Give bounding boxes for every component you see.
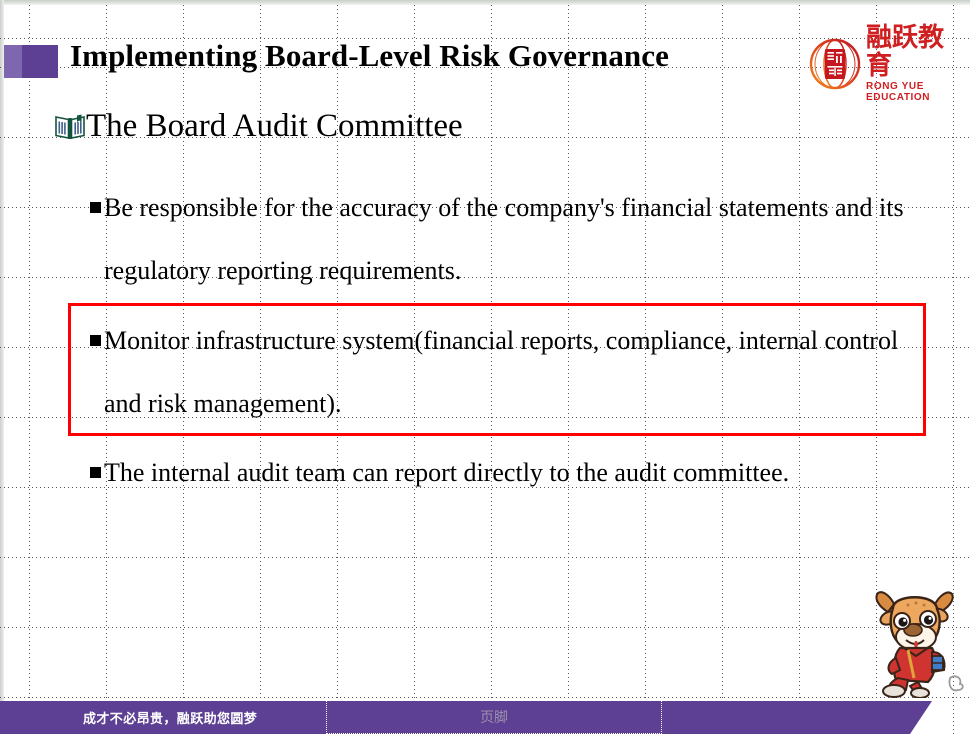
square-bullet-icon xyxy=(90,467,101,478)
brand-wordmark: 融跃教育 RONG YUE EDUCATION xyxy=(866,25,966,103)
footer-placeholder-text: 页脚 xyxy=(480,707,508,727)
square-bullet-icon xyxy=(90,202,101,213)
bullet-item: The internal audit team can report direc… xyxy=(90,441,940,504)
top-edge-strip xyxy=(0,0,970,5)
title-decor-block-dark xyxy=(22,45,58,78)
slide-title: Implementing Board-Level Risk Governance xyxy=(70,38,810,74)
footer-slogan: 成才不必昂贵，融跃助您圆梦 xyxy=(83,708,257,727)
ox-mascot-icon xyxy=(866,578,966,698)
bullet-item: Be responsible for the accuracy of the c… xyxy=(90,176,940,302)
brand-name-en: RONG YUE EDUCATION xyxy=(866,81,966,103)
brand-logo: 融跃教育 RONG YUE EDUCATION xyxy=(806,33,966,95)
section-heading-text: The Board Audit Committee xyxy=(86,110,463,143)
footer-placeholder-box[interactable]: 页脚 xyxy=(326,700,662,734)
slide-canvas: Implementing Board-Level Risk Governance xyxy=(0,0,970,734)
left-edge-strip xyxy=(0,0,4,734)
open-book-icon xyxy=(55,113,85,140)
title-decor-block-light xyxy=(4,45,22,78)
section-heading-row: The Board Audit Committee xyxy=(55,110,463,143)
brand-name-cn: 融跃教育 xyxy=(866,25,966,80)
title-decor-block xyxy=(4,45,58,78)
red-highlight-box xyxy=(68,303,926,436)
bullet-text: Be responsible for the accuracy of the c… xyxy=(104,176,940,302)
rongyue-seal-icon xyxy=(806,35,864,93)
bullet-text: The internal audit team can report direc… xyxy=(104,441,940,504)
